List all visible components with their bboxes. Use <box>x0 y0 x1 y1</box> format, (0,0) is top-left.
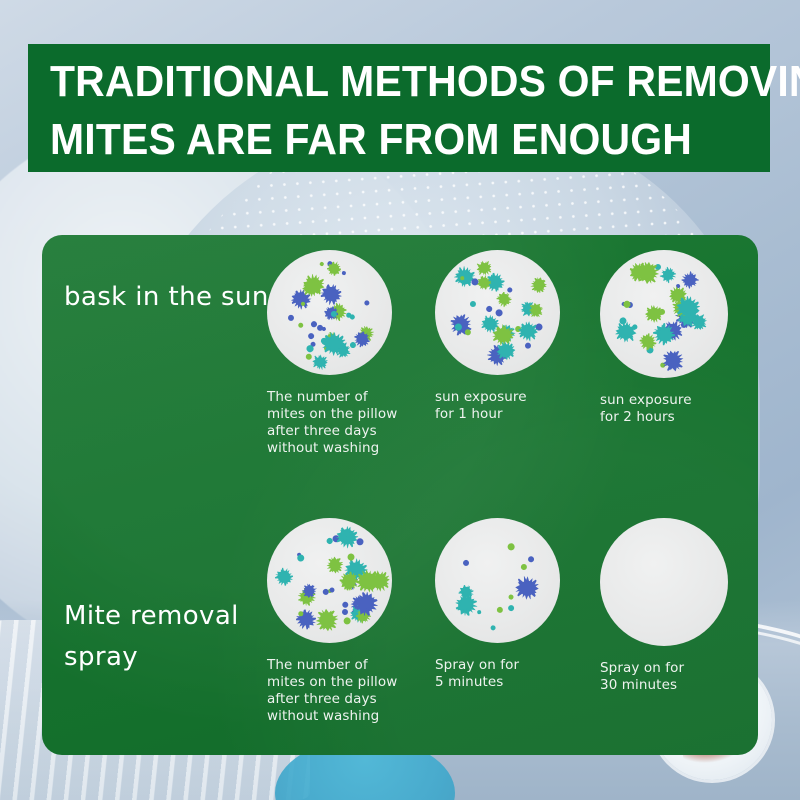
mite-dot <box>355 537 365 547</box>
mite-dot <box>648 308 660 320</box>
mite-dot <box>495 326 512 343</box>
mite-dot <box>483 317 498 332</box>
row-label-sun: bask in the sun <box>64 277 274 318</box>
mite-dot <box>477 610 482 615</box>
mite-dot <box>524 341 533 350</box>
mite-dot <box>532 278 545 291</box>
mite-dot <box>307 332 314 339</box>
petri-dish-sun-2hours <box>600 250 728 378</box>
mite-dot <box>462 559 470 567</box>
method-row-sun: bask in the sun The number of mites on t… <box>42 237 758 492</box>
mite-dot <box>490 624 497 631</box>
mite-dot <box>521 324 536 339</box>
mite-dot <box>346 552 355 561</box>
mite-dot <box>319 261 325 267</box>
mite-dot <box>682 272 697 287</box>
caption-sun-1hour: sun exposure for 1 hour <box>435 389 592 423</box>
mite-dot <box>640 265 656 281</box>
mite-dot <box>507 605 514 612</box>
mite-dot <box>329 559 341 571</box>
mite-dot <box>349 342 356 349</box>
mite-dot <box>521 563 529 571</box>
title-line-2: MITES ARE FAR FROM ENOUGH <box>50 111 699 169</box>
mite-dot <box>276 569 292 585</box>
mite-dot <box>326 336 342 352</box>
mite-dot <box>519 580 535 596</box>
row-label-spray: Mite removal spray <box>64 596 274 678</box>
mite-dot <box>346 312 351 317</box>
mite-dot <box>618 324 633 339</box>
mite-dot <box>342 270 347 275</box>
sample-cell-sun-baseline: The number of mites on the pillow after … <box>264 250 424 457</box>
mite-dot <box>478 262 490 274</box>
title-line-1: TRADITIONAL METHODS OF REMOVING <box>50 53 699 111</box>
mite-dot <box>507 543 515 551</box>
mite-dot <box>499 344 513 358</box>
mite-dot <box>328 263 342 277</box>
petri-dish-spray-30min <box>600 518 728 646</box>
mite-dot <box>508 594 514 600</box>
sample-cell-sun-2hours: sun exposure for 2 hours <box>597 250 757 426</box>
mite-dot <box>304 282 317 295</box>
mite-dot <box>496 606 503 613</box>
comparison-panel: bask in the sun The number of mites on t… <box>42 235 758 755</box>
mite-dot <box>530 304 541 315</box>
method-row-spray: Mite removal spray The number of mites o… <box>42 500 758 755</box>
mite-dot <box>456 595 476 615</box>
mite-dot <box>485 305 493 313</box>
petri-dish-sun-baseline <box>267 250 392 375</box>
sample-cell-sun-1hour: sun exposure for 1 hour <box>432 250 592 423</box>
caption-sun-2hours: sun exposure for 2 hours <box>600 392 757 426</box>
caption-spray-baseline: The number of mites on the pillow after … <box>267 657 424 725</box>
mite-dot <box>661 268 675 282</box>
mite-dot <box>341 601 348 608</box>
title-banner: TRADITIONAL METHODS OF REMOVING MITES AR… <box>28 44 770 172</box>
petri-dish-spray-baseline <box>267 518 392 643</box>
infographic-poster: TRADITIONAL METHODS OF REMOVING MITES AR… <box>0 0 800 800</box>
mite-dot <box>364 300 370 306</box>
mite-dot <box>298 323 304 329</box>
mite-dot <box>329 587 335 593</box>
mite-dot <box>526 555 535 564</box>
petri-dish-spray-5min <box>435 518 560 643</box>
mite-dot <box>497 292 511 306</box>
mite-dot <box>341 608 349 616</box>
caption-sun-baseline: The number of mites on the pillow after … <box>267 389 424 457</box>
mite-dot <box>343 616 352 625</box>
sample-cell-spray-5min: Spray on for 5 minutes <box>432 518 592 691</box>
mite-dot <box>319 612 335 628</box>
mite-dot <box>286 313 295 322</box>
mite-dot <box>507 287 514 294</box>
mite-dot <box>665 352 682 369</box>
mite-dot <box>305 353 313 361</box>
sample-cell-spray-30min: Spray on for 30 minutes <box>597 518 757 694</box>
sample-cell-spray-baseline: The number of mites on the pillow after … <box>264 518 424 725</box>
petri-dish-sun-1hour <box>435 250 560 375</box>
mite-dot <box>469 300 477 308</box>
caption-spray-30min: Spray on for 30 minutes <box>600 660 757 694</box>
mite-dot <box>315 356 326 367</box>
caption-spray-5min: Spray on for 5 minutes <box>435 657 592 691</box>
mite-dot <box>495 309 503 317</box>
